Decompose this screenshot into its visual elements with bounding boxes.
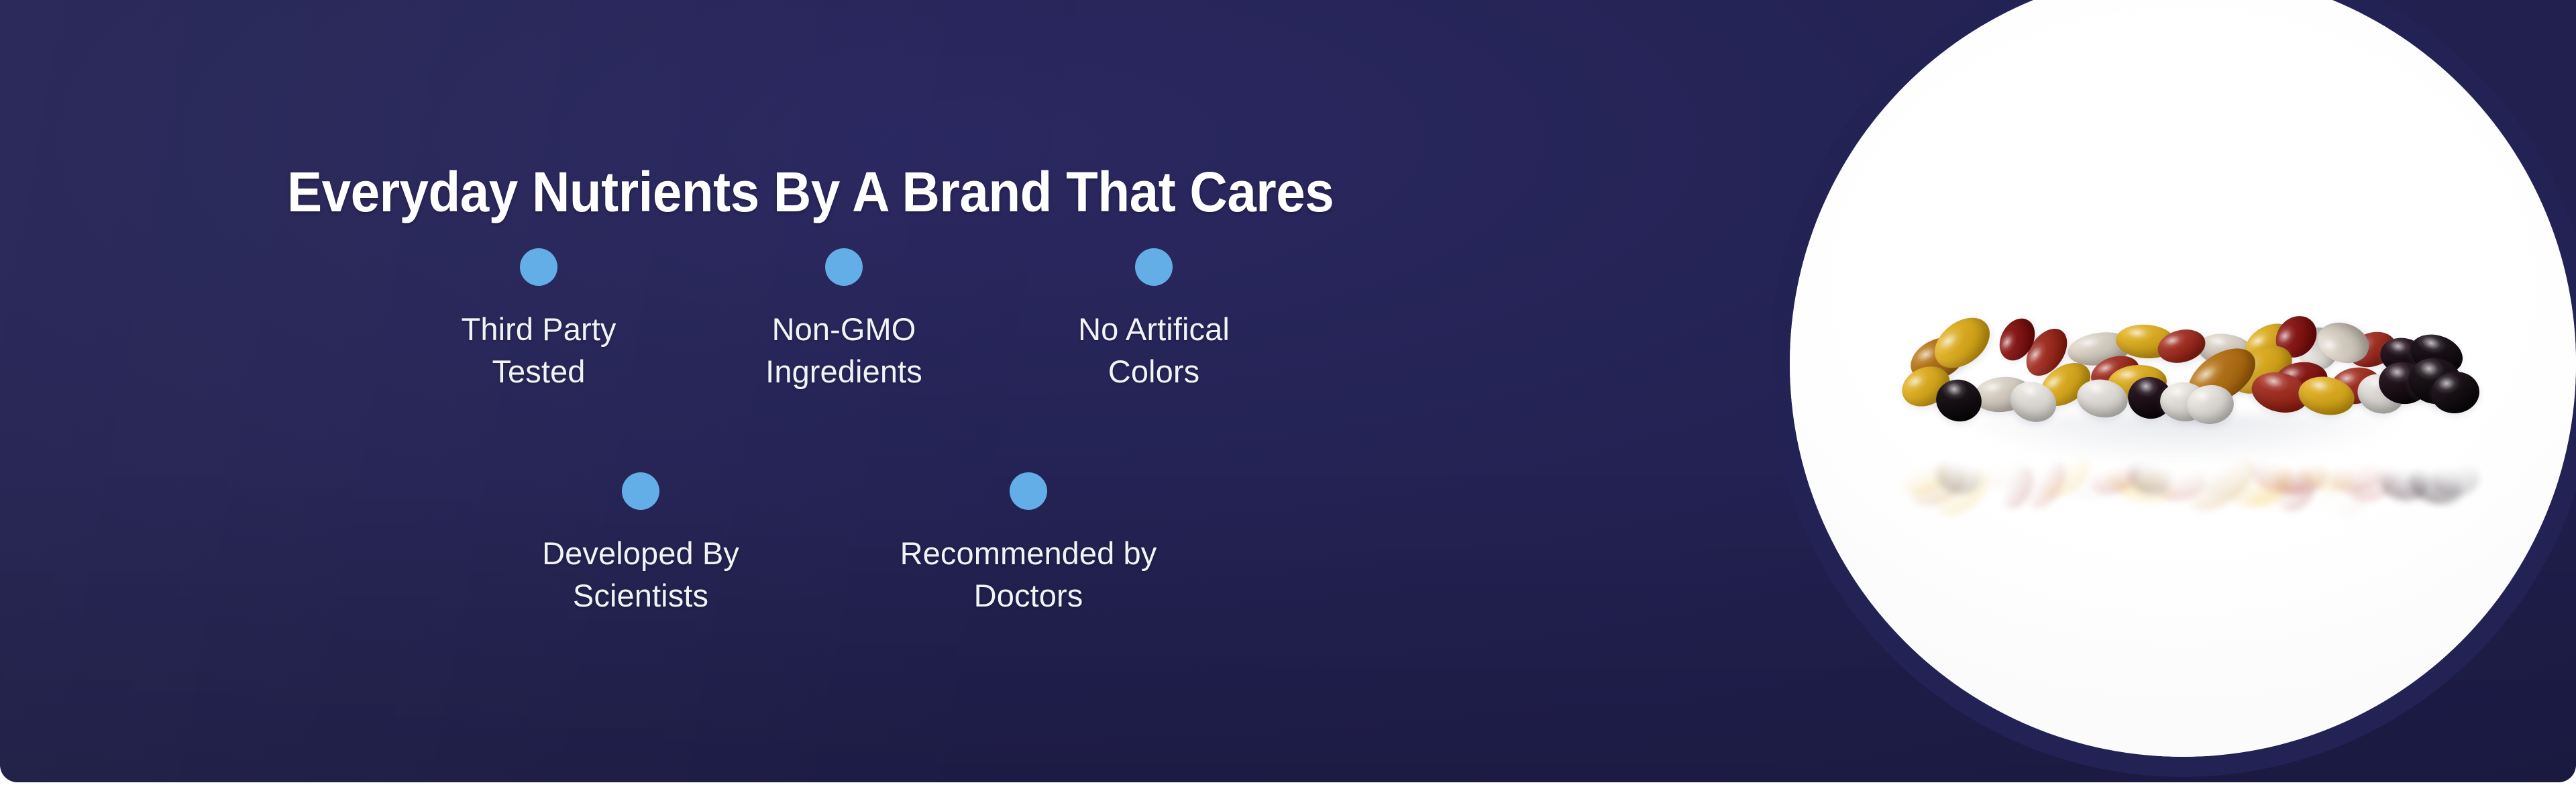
feature-item-no-artifical-colors: No Artifical Colors bbox=[1000, 248, 1308, 392]
feature-label: Third Party Tested bbox=[438, 309, 639, 392]
bullet-dot-icon bbox=[520, 248, 557, 286]
bullet-dot-icon bbox=[825, 248, 863, 286]
bullet-dot-icon bbox=[622, 472, 659, 510]
page-title: Everyday Nutrients By A Brand That Cares bbox=[287, 164, 1334, 220]
feature-item-third-party-tested: Third Party Tested bbox=[384, 248, 693, 392]
feature-item-recommended-by-doctors: Recommended by Doctors bbox=[874, 472, 1183, 617]
feature-label: Non-GMO Ingredients bbox=[730, 309, 958, 392]
feature-item-non-gmo-ingredients: Non-GMO Ingredients bbox=[690, 248, 998, 392]
bullet-dot-icon bbox=[1010, 472, 1047, 510]
feature-label: Recommended by Doctors bbox=[888, 533, 1169, 617]
bullet-dot-icon bbox=[1135, 248, 1173, 286]
feature-label: Developed By Scientists bbox=[540, 533, 741, 617]
feature-label: No Artifical Colors bbox=[1053, 309, 1254, 392]
promo-banner: Everyday Nutrients By A Brand That Cares… bbox=[0, 0, 2576, 787]
product-medallion bbox=[1790, 0, 2576, 757]
feature-item-developed-by-scientists: Developed By Scientists bbox=[486, 472, 795, 617]
bottom-divider bbox=[0, 782, 2576, 787]
pills-illustration bbox=[1894, 310, 2471, 511]
assorted-supplement-pills-photo bbox=[1790, 0, 2576, 757]
